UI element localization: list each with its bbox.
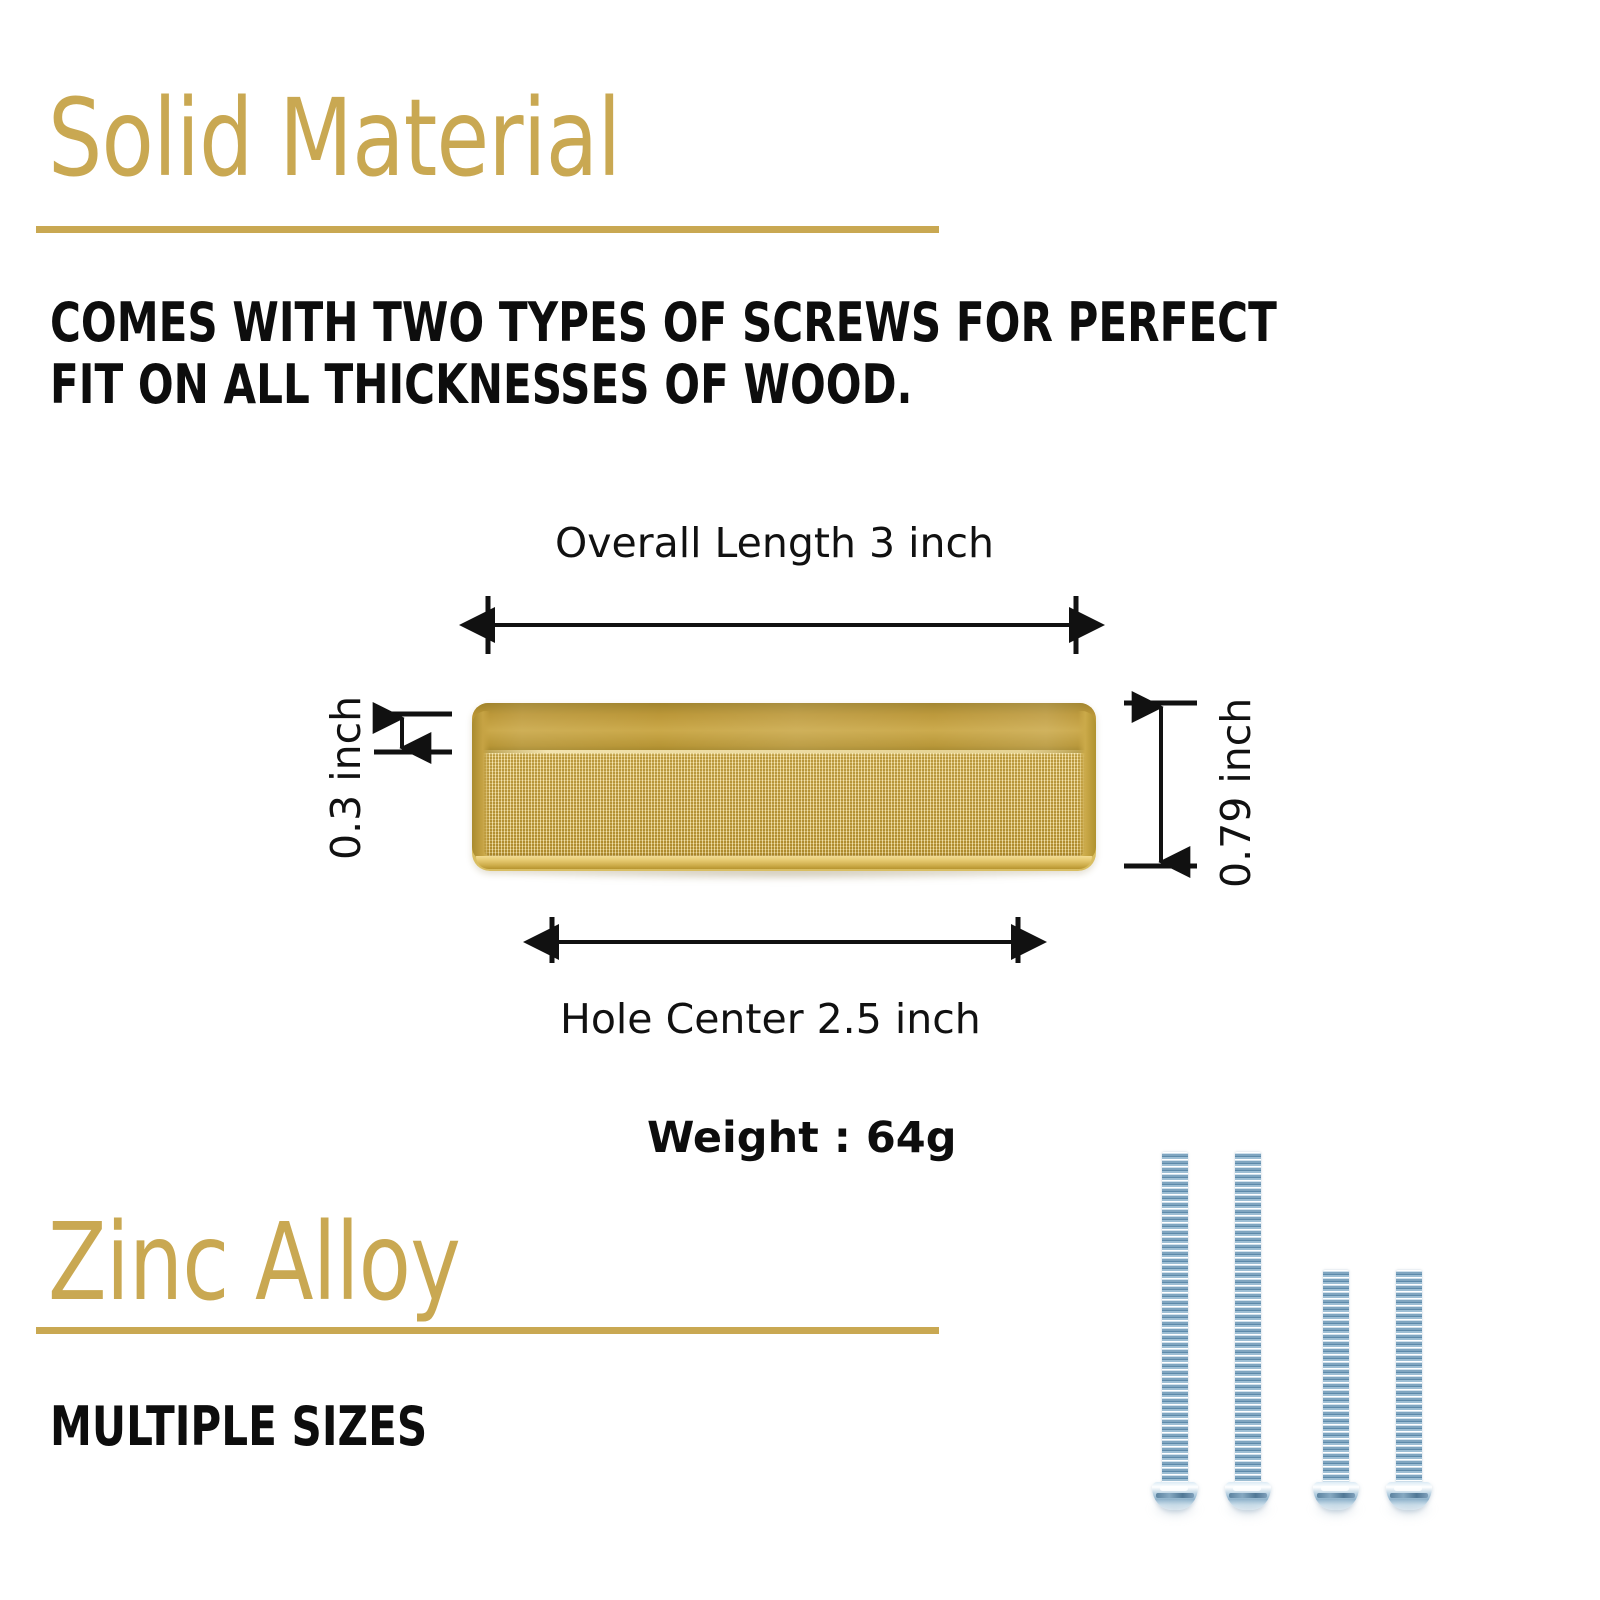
product-infographic: Solid Material COMES WITH TWO TYPES OF S… [0, 0, 1600, 1600]
screw-base-blur [1150, 1498, 1199, 1520]
handle-top-bevel [472, 703, 1096, 753]
screw-shaft [1396, 1270, 1422, 1484]
dimension-thickness [374, 714, 452, 752]
divider-rule-bottom [36, 1327, 939, 1334]
handle-right-end-cap [1078, 711, 1096, 861]
screw-base-blur [1384, 1498, 1433, 1520]
dimension-height [1124, 703, 1197, 866]
dimension-overall-length [488, 596, 1076, 654]
caption-multiple-sizes: MULTIPLE SIZES [50, 1396, 986, 1458]
page-title-zinc-alloy: Zinc Alloy [48, 1208, 460, 1318]
screw-base-blur [1223, 1498, 1272, 1520]
screw-shaft [1162, 1152, 1188, 1484]
screw-long-2 [1235, 1152, 1261, 1510]
handle-left-end-cap [472, 711, 490, 861]
label-weight: Weight : 64g [647, 1113, 957, 1163]
label-thickness: 0.3 inch [322, 696, 370, 860]
screw-base-blur [1311, 1498, 1360, 1520]
label-height: 0.79 inch [1212, 698, 1260, 888]
screw-shaft [1323, 1270, 1349, 1484]
caption-screws-description: COMES WITH TWO TYPES OF SCREWS FOR PERFE… [50, 292, 1454, 416]
handle-knurled-face [483, 753, 1085, 857]
screw-short-1 [1323, 1270, 1349, 1510]
label-hole-center: Hole Center 2.5 inch [560, 995, 981, 1043]
divider-rule-top [36, 226, 939, 233]
screw-short-2 [1396, 1270, 1422, 1510]
handle-body [472, 703, 1096, 871]
page-title-solid-material: Solid Material [48, 84, 620, 194]
handle-bottom-rim [476, 856, 1092, 869]
product-image-handle [472, 703, 1096, 871]
screw-shaft [1235, 1152, 1261, 1484]
screw-long-1 [1162, 1152, 1188, 1510]
label-overall-length: Overall Length 3 inch [555, 519, 994, 567]
dimension-hole-center [552, 917, 1018, 963]
